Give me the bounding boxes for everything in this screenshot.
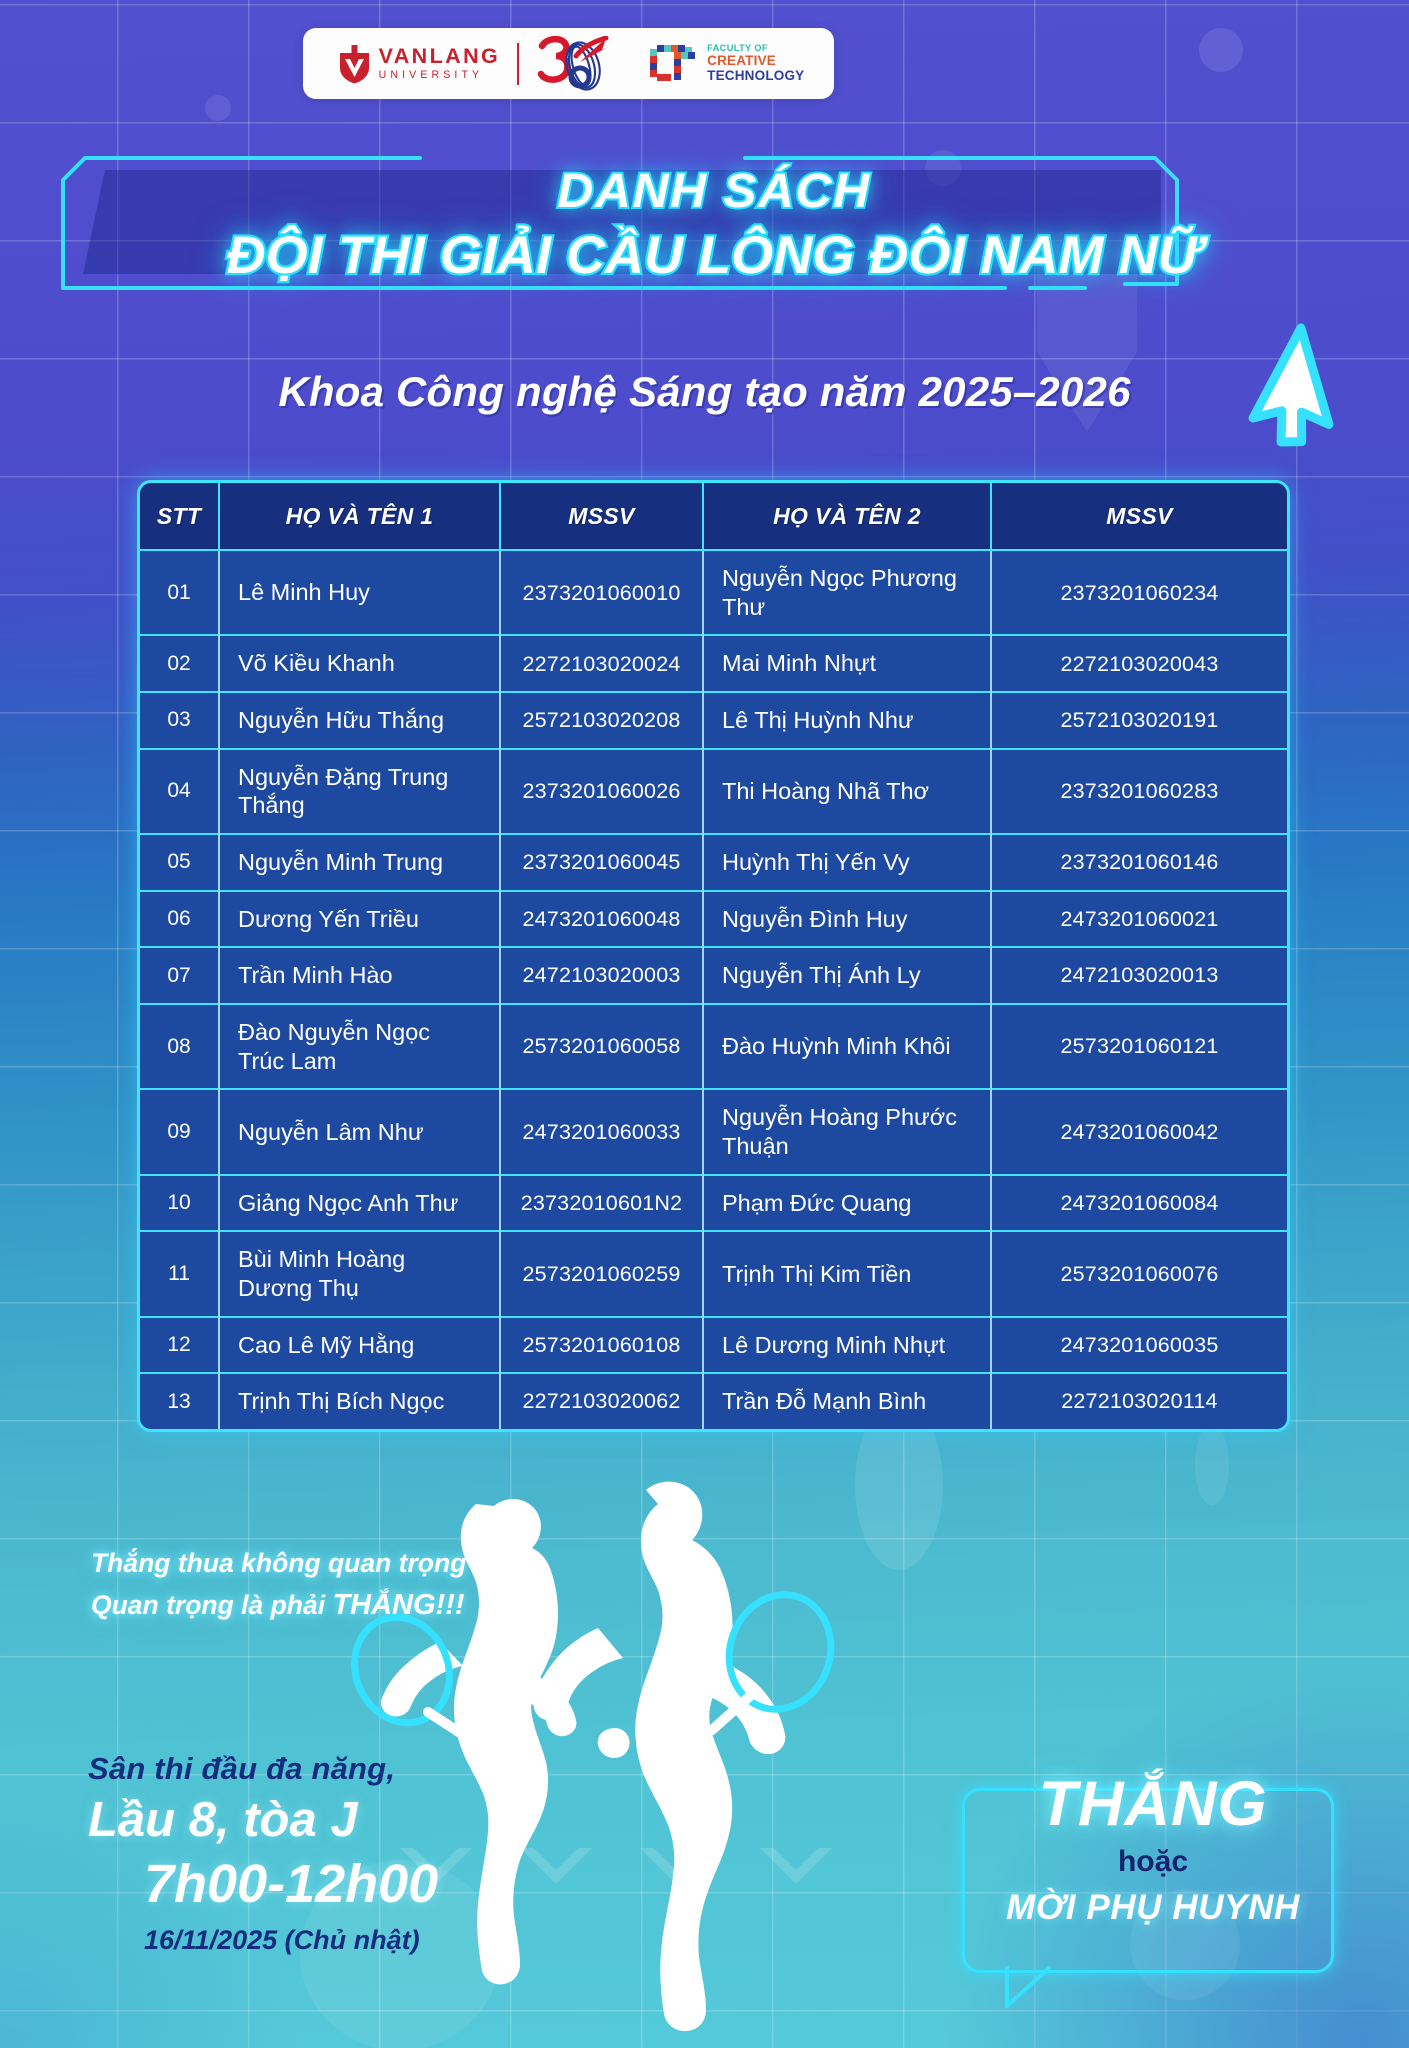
subtitle: Khoa Công nghệ Sáng tạo năm 2025–2026 bbox=[0, 368, 1409, 416]
row-stt: 02 bbox=[140, 635, 219, 692]
row-id2: 2573201060121 bbox=[991, 1004, 1287, 1089]
row-name2: Nguyễn Ngọc Phương Thư bbox=[703, 550, 991, 635]
row-id1: 2272103020062 bbox=[500, 1373, 703, 1429]
row-id1: 23732010601N2 bbox=[500, 1175, 703, 1232]
row-name2: Phạm Đức Quang bbox=[703, 1175, 991, 1232]
column-header-name2: HỌ VÀ TÊN 2 bbox=[703, 483, 991, 550]
bubble-line-2: hoặc bbox=[958, 1845, 1348, 1879]
table-body: 01Lê Minh Huy2373201060010Nguyễn Ngọc Ph… bbox=[140, 550, 1287, 1429]
row-name1: Giảng Ngọc Anh Thư bbox=[219, 1175, 500, 1232]
bubble-line-3: MỜI PHỤ HUYNH bbox=[958, 1888, 1348, 1928]
row-name2: Nguyễn Thị Ánh Ly bbox=[703, 947, 991, 1004]
row-name2: Nguyễn Hoàng Phước Thuận bbox=[703, 1089, 991, 1174]
row-name1: Dương Yến Triều bbox=[219, 891, 500, 948]
row-id1: 2272103020024 bbox=[500, 635, 703, 692]
faculty-of-creative-technology-logo: FACULTY OF CREATIVE TECHNOLOGY bbox=[648, 43, 804, 85]
row-id2: 2572103020191 bbox=[991, 692, 1287, 749]
ct-line-1: FACULTY OF bbox=[707, 44, 804, 54]
row-name2: Nguyễn Đình Huy bbox=[703, 891, 991, 948]
row-id2: 2473201060084 bbox=[991, 1175, 1287, 1232]
title-line-1: DANH SÁCH bbox=[116, 164, 1312, 219]
row-id1: 2373201060045 bbox=[500, 834, 703, 891]
vanlang-shield-icon bbox=[339, 44, 370, 84]
row-id1: 2573201060108 bbox=[500, 1317, 703, 1374]
venue-line-2: Lầu 8, tòa J bbox=[88, 1796, 438, 1845]
table-row: 06Dương Yến Triều2473201060048Nguyễn Đìn… bbox=[140, 891, 1287, 948]
logo-divider bbox=[517, 43, 519, 85]
row-stt: 06 bbox=[140, 891, 219, 948]
row-stt: 12 bbox=[140, 1317, 219, 1374]
row-id2: 2472103020013 bbox=[991, 947, 1287, 1004]
row-name1: Lê Minh Huy bbox=[219, 550, 500, 635]
row-name1: Trần Minh Hào bbox=[219, 947, 500, 1004]
table-row: 11Bùi Minh Hoàng Dương Thụ2573201060259T… bbox=[140, 1231, 1287, 1316]
row-stt: 10 bbox=[140, 1175, 219, 1232]
decor-ellipse-2 bbox=[1195, 1425, 1229, 1505]
table-row: 10Giảng Ngọc Anh Thư23732010601N2Phạm Đứ… bbox=[140, 1175, 1287, 1232]
row-id2: 2373201060234 bbox=[991, 550, 1287, 635]
row-stt: 13 bbox=[140, 1373, 219, 1429]
table-row: 12Cao Lê Mỹ Hằng2573201060108Lê Dương Mi… bbox=[140, 1317, 1287, 1374]
column-header-id1: MSSV bbox=[500, 483, 703, 550]
row-name2: Đào Huỳnh Minh Khôi bbox=[703, 1004, 991, 1089]
row-id2: 2373201060146 bbox=[991, 834, 1287, 891]
poster-canvas: VANLANG UNIVERSITY bbox=[0, 0, 1409, 2048]
row-id2: 2272103020114 bbox=[991, 1373, 1287, 1429]
vanlang-sub: UNIVERSITY bbox=[379, 70, 501, 81]
ct-line-3: TECHNOLOGY bbox=[707, 69, 804, 83]
ct-pixel-icon bbox=[648, 43, 700, 85]
row-name2: Lê Thị Huỳnh Như bbox=[703, 692, 991, 749]
row-id1: 2473201060033 bbox=[500, 1089, 703, 1174]
30-years-anniversary-logo bbox=[536, 36, 614, 92]
row-name1: Nguyễn Lâm Như bbox=[219, 1089, 500, 1174]
row-id1: 2373201060026 bbox=[500, 749, 703, 834]
row-name1: Nguyễn Hữu Thắng bbox=[219, 692, 500, 749]
vanlang-university-logo: VANLANG UNIVERSITY bbox=[333, 44, 501, 84]
table-row: 07Trần Minh Hào2472103020003Nguyễn Thị Á… bbox=[140, 947, 1287, 1004]
row-id1: 2572103020208 bbox=[500, 692, 703, 749]
mouse-cursor-icon bbox=[1233, 318, 1373, 458]
row-name1: Đào Nguyễn Ngọc Trúc Lam bbox=[219, 1004, 500, 1089]
row-id2: 2473201060021 bbox=[991, 891, 1287, 948]
venue-time: 7h00-12h00 bbox=[144, 1857, 438, 1911]
row-name2: Huỳnh Thị Yến Vy bbox=[703, 834, 991, 891]
vanlang-name: VANLANG bbox=[379, 46, 501, 68]
row-name1: Nguyễn Đặng Trung Thắng bbox=[219, 749, 500, 834]
title-line-2: ĐỘI THI GIẢI CẦU LÔNG ĐÔI NAM NỮ bbox=[128, 225, 1301, 286]
column-header-id2: MSSV bbox=[991, 483, 1287, 550]
table-row: 13Trịnh Thị Bích Ngọc2272103020062Trần Đ… bbox=[140, 1373, 1287, 1429]
row-id1: 2373201060010 bbox=[500, 550, 703, 635]
row-stt: 04 bbox=[140, 749, 219, 834]
row-name2: Thi Hoàng Nhã Thơ bbox=[703, 749, 991, 834]
table-row: 01Lê Minh Huy2373201060010Nguyễn Ngọc Ph… bbox=[140, 550, 1287, 635]
venue-date: 16/11/2025 (Chủ nhật) bbox=[144, 1927, 438, 1954]
row-name1: Võ Kiều Khanh bbox=[219, 635, 500, 692]
decor-circle-3 bbox=[205, 95, 231, 121]
row-name1: Trịnh Thị Bích Ngọc bbox=[219, 1373, 500, 1429]
table-row: 09Nguyễn Lâm Như2473201060033Nguyễn Hoàn… bbox=[140, 1089, 1287, 1174]
table-row: 05Nguyễn Minh Trung2373201060045Huỳnh Th… bbox=[140, 834, 1287, 891]
table-header-row: STT HỌ VÀ TÊN 1 MSSV HỌ VÀ TÊN 2 MSSV bbox=[140, 483, 1287, 550]
row-stt: 07 bbox=[140, 947, 219, 1004]
row-id1: 2573201060259 bbox=[500, 1231, 703, 1316]
decor-circle-1 bbox=[1199, 28, 1243, 72]
row-stt: 05 bbox=[140, 834, 219, 891]
row-id2: 2373201060283 bbox=[991, 749, 1287, 834]
row-stt: 09 bbox=[140, 1089, 219, 1174]
column-header-name1: HỌ VÀ TÊN 1 bbox=[219, 483, 500, 550]
row-stt: 01 bbox=[140, 550, 219, 635]
ct-line-2: CREATIVE bbox=[707, 54, 804, 68]
row-id2: 2272103020043 bbox=[991, 635, 1287, 692]
row-id2: 2473201060035 bbox=[991, 1317, 1287, 1374]
venue-line-1: Sân thi đầu đa năng, bbox=[88, 1753, 438, 1784]
row-name2: Trần Đỗ Mạnh Bình bbox=[703, 1373, 991, 1429]
speech-bubble-tail bbox=[1003, 1966, 1055, 2010]
row-stt: 03 bbox=[140, 692, 219, 749]
table-row: 03Nguyễn Hữu Thắng2572103020208Lê Thị Hu… bbox=[140, 692, 1287, 749]
logo-bar: VANLANG UNIVERSITY bbox=[303, 28, 834, 99]
row-name1: Bùi Minh Hoàng Dương Thụ bbox=[219, 1231, 500, 1316]
bubble-line-1: THẮNG bbox=[958, 1768, 1348, 1840]
title-block: DANH SÁCH ĐỘI THI GIẢI CẦU LÔNG ĐÔI NAM … bbox=[0, 148, 1409, 348]
row-id2: 2573201060076 bbox=[991, 1231, 1287, 1316]
column-header-stt: STT bbox=[140, 483, 219, 550]
row-stt: 08 bbox=[140, 1004, 219, 1089]
team-list-table: STT HỌ VÀ TÊN 1 MSSV HỌ VÀ TÊN 2 MSSV 01… bbox=[137, 480, 1290, 1432]
row-name2: Mai Minh Nhựt bbox=[703, 635, 991, 692]
row-id1: 2472103020003 bbox=[500, 947, 703, 1004]
row-id1: 2573201060058 bbox=[500, 1004, 703, 1089]
row-id1: 2473201060048 bbox=[500, 891, 703, 948]
venue-info: Sân thi đầu đa năng, Lầu 8, tòa J 7h00-1… bbox=[88, 1753, 438, 1954]
row-name2: Lê Dương Minh Nhựt bbox=[703, 1317, 991, 1374]
row-id2: 2473201060042 bbox=[991, 1089, 1287, 1174]
row-name1: Nguyễn Minh Trung bbox=[219, 834, 500, 891]
row-name2: Trịnh Thị Kim Tiền bbox=[703, 1231, 991, 1316]
table-row: 08Đào Nguyễn Ngọc Trúc Lam2573201060058Đ… bbox=[140, 1004, 1287, 1089]
table-row: 04Nguyễn Đặng Trung Thắng2373201060026Th… bbox=[140, 749, 1287, 834]
row-name1: Cao Lê Mỹ Hằng bbox=[219, 1317, 500, 1374]
table-row: 02Võ Kiều Khanh2272103020024Mai Minh Nhự… bbox=[140, 635, 1287, 692]
row-stt: 11 bbox=[140, 1231, 219, 1316]
